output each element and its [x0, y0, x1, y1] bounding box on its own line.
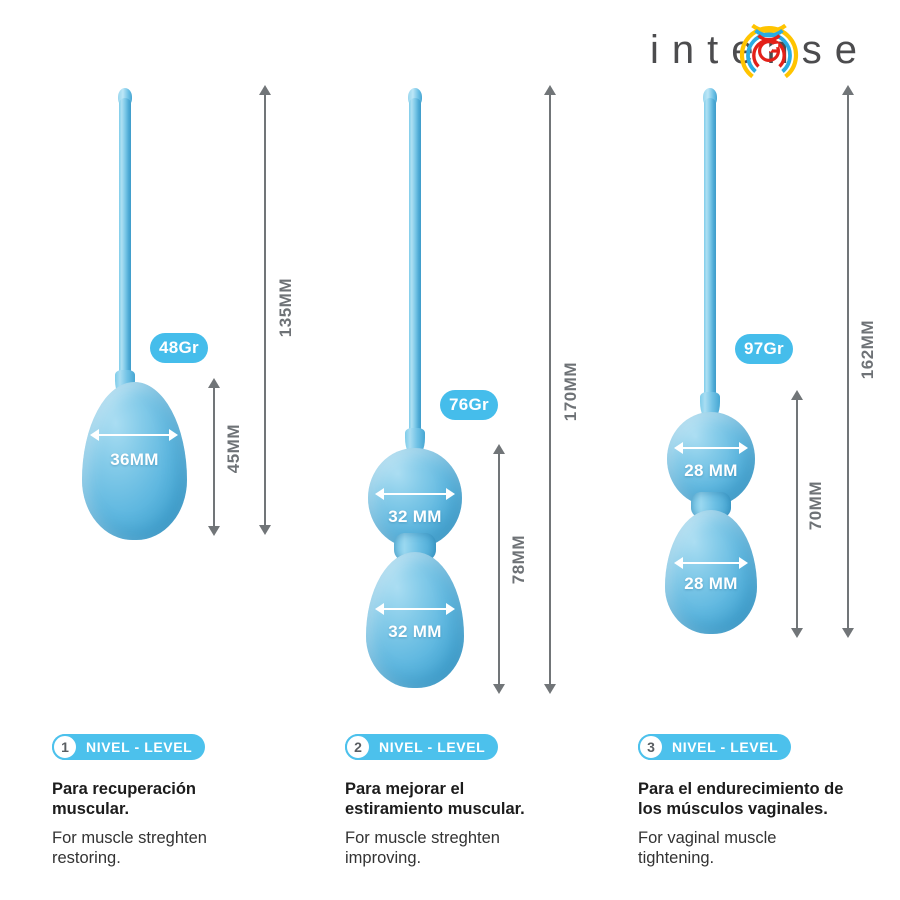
caption-english-1: For muscle streghten restoring. [52, 828, 322, 868]
stem-2 [409, 98, 421, 446]
weight-badge-1: 48Gr [150, 333, 208, 363]
length-label-1-total: 135MM [276, 278, 296, 337]
width-label-2-a: 32 MM [368, 507, 462, 527]
level-number-1: 1 [52, 734, 78, 760]
caption-spanish-3: Para el endurecimiento de los músculos v… [638, 779, 900, 819]
weight-badge-3: 97Gr [735, 334, 793, 364]
level-label-1: NIVEL - LEVEL [86, 739, 192, 755]
stem-3 [704, 98, 716, 410]
length-label-1-body: 45MM [224, 424, 244, 473]
length-arrow-2-total [543, 85, 557, 694]
width-arrow-2-b [375, 602, 455, 616]
width-arrow-3-a [674, 441, 748, 455]
length-label-2-body: 78MM [509, 535, 529, 584]
level-number-3: 3 [638, 734, 664, 760]
caption-english-2: For muscle streghten improving. [345, 828, 625, 868]
width-arrow-3-b [674, 556, 748, 570]
level-label-2: NIVEL - LEVEL [379, 739, 485, 755]
width-label-3-b: 28 MM [667, 574, 755, 594]
ball-3-b [665, 510, 757, 634]
length-label-3-total: 162MM [858, 320, 878, 379]
brand-logo: intense [650, 14, 900, 86]
width-label-3-a: 28 MM [667, 461, 755, 481]
caption-spanish-2: Para mejorar el estiramiento muscular. [345, 779, 625, 819]
length-arrow-3-body [790, 390, 804, 638]
infographic-canvas: intense 36MM 48Gr [0, 0, 900, 900]
stem-1 [119, 98, 131, 388]
length-arrow-3-total [841, 85, 855, 638]
length-label-2-total: 170MM [561, 362, 581, 421]
caption-english-3: For vaginal muscle tightening. [638, 828, 900, 868]
length-arrow-2-body [492, 444, 506, 694]
width-arrow-2-a [375, 487, 455, 501]
width-arrow-1-a [90, 428, 178, 442]
width-label-1-a: 36MM [82, 450, 187, 470]
caption-level-2: NIVEL - LEVEL 2 Para mejorar el estirami… [345, 734, 625, 869]
ball-2-b [366, 552, 464, 688]
weight-badge-2: 76Gr [440, 390, 498, 420]
caption-level-3: NIVEL - LEVEL 3 Para el endurecimiento d… [638, 734, 900, 869]
intense-concentric-arcs-logo-icon [738, 20, 800, 82]
length-arrow-1-body [207, 378, 221, 536]
level-number-2: 2 [345, 734, 371, 760]
width-label-2-b: 32 MM [368, 622, 462, 642]
length-arrow-1-total [258, 85, 272, 535]
length-label-3-body: 70MM [806, 481, 826, 530]
caption-level-1: NIVEL - LEVEL 1 Para recuperación muscul… [52, 734, 322, 869]
level-label-3: NIVEL - LEVEL [672, 739, 778, 755]
caption-spanish-1: Para recuperación muscular. [52, 779, 322, 819]
